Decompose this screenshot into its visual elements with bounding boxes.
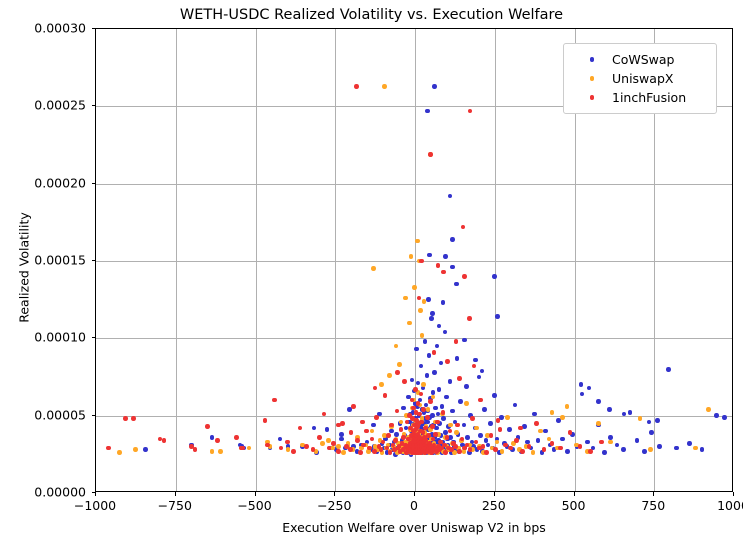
scatter-point — [386, 433, 391, 438]
scatter-point — [465, 435, 470, 440]
scatter-point — [560, 415, 565, 420]
scatter-point — [432, 370, 437, 375]
scatter-point — [550, 441, 555, 446]
scatter-point — [531, 450, 536, 455]
page-title: WETH-USDC Realized Volatility vs. Execut… — [0, 7, 743, 23]
scatter-point — [437, 387, 442, 392]
scatter-point — [454, 339, 459, 344]
scatter-point — [370, 437, 375, 442]
scatter-point — [648, 447, 653, 452]
scatter-point — [478, 433, 483, 438]
scatter-point — [428, 152, 433, 157]
scatter-point — [435, 420, 440, 425]
scatter-point — [379, 382, 384, 387]
scatter-point — [470, 416, 475, 421]
scatter-point — [373, 386, 378, 391]
scatter-point — [247, 446, 252, 451]
scatter-point — [454, 430, 459, 435]
scatter-point — [367, 446, 372, 451]
scatter-point — [341, 450, 346, 455]
scatter-point — [312, 426, 317, 431]
scatter-point — [503, 443, 508, 448]
scatter-point — [580, 392, 585, 397]
scatter-point — [607, 407, 612, 412]
scatter-point — [193, 447, 198, 452]
scatter-point — [399, 427, 404, 432]
scatter-point — [437, 324, 442, 329]
x-tick-label: 1000 — [717, 498, 743, 513]
scatter-point — [427, 253, 432, 258]
y-axis-label: Realized Volatility — [17, 158, 32, 378]
scatter-point — [657, 444, 662, 449]
scatter-point — [534, 421, 539, 426]
legend-item-1inchfusion[interactable]: 1inchFusion — [572, 88, 708, 107]
scatter-point — [428, 399, 433, 404]
scatter-point — [370, 429, 375, 434]
scatter-point — [320, 441, 325, 446]
scatter-point — [416, 381, 421, 386]
scatter-point — [599, 440, 604, 445]
scatter-point — [498, 427, 503, 432]
scatter-point — [481, 444, 486, 449]
scatter-point — [488, 421, 493, 426]
scatter-point — [434, 426, 439, 431]
scatter-point — [693, 446, 698, 451]
scatter-point — [364, 429, 369, 434]
x-tick-label: −1000 — [74, 498, 116, 513]
scatter-point — [602, 450, 607, 455]
scatter-point — [234, 435, 239, 440]
scatter-point — [383, 393, 388, 398]
scatter-point — [393, 438, 398, 443]
x-tick-mark — [414, 492, 415, 496]
scatter-point — [518, 426, 523, 431]
scatter-point — [448, 423, 453, 428]
x-tick-label: −500 — [237, 498, 271, 513]
scatter-point — [714, 413, 719, 418]
y-tick-mark — [92, 183, 96, 184]
scatter-point — [453, 444, 458, 449]
scatter-point — [478, 398, 483, 403]
scatter-point — [532, 412, 537, 417]
scatter-point — [162, 438, 167, 443]
x-tick-mark — [255, 492, 256, 496]
scatter-point — [443, 330, 448, 335]
scatter-point — [331, 441, 336, 446]
scatter-point — [218, 449, 223, 454]
scatter-point — [425, 373, 430, 378]
scatter-point — [514, 438, 519, 443]
scatter-point — [317, 435, 322, 440]
scatter-point — [360, 420, 365, 425]
scatter-point — [123, 416, 128, 421]
scatter-point — [538, 429, 543, 434]
y-tick-mark — [92, 105, 96, 106]
scatter-point — [700, 447, 705, 452]
scatter-point — [358, 450, 363, 455]
scatter-point — [432, 84, 437, 89]
scatter-point — [131, 416, 136, 421]
scatter-point — [457, 449, 462, 454]
scatter-point — [382, 84, 387, 89]
scatter-point — [448, 379, 453, 384]
scatter-point — [448, 194, 453, 199]
scatter-point — [722, 415, 727, 420]
scatter-point — [435, 344, 440, 349]
scatter-point — [455, 423, 460, 428]
scatter-point — [507, 427, 512, 432]
scatter-point — [462, 274, 467, 279]
scatter-point — [467, 316, 472, 321]
scatter-point — [419, 259, 424, 264]
legend-label: UniswapX — [612, 71, 673, 86]
scatter-point — [421, 407, 426, 412]
scatter-point — [621, 447, 626, 452]
scatter-point — [608, 435, 613, 440]
scatter-point — [325, 427, 330, 432]
scatter-point — [414, 347, 419, 352]
scatter-point — [596, 421, 601, 426]
scatter-point — [579, 382, 584, 387]
scatter-point — [440, 404, 445, 409]
legend-marker-icon — [572, 95, 612, 100]
scatter-point — [419, 420, 424, 425]
scatter-point — [565, 404, 570, 409]
scatter-point — [473, 358, 478, 363]
scatter-point — [472, 364, 477, 369]
scatter-point — [279, 446, 284, 451]
scatter-point — [468, 447, 473, 452]
scatter-point — [371, 266, 376, 271]
scatter-point — [263, 418, 268, 423]
scatter-point — [495, 440, 500, 445]
scatter-point — [462, 423, 467, 428]
legend-marker-icon — [572, 57, 612, 62]
scatter-point — [336, 423, 341, 428]
y-tick-label: 0.00015 — [34, 253, 86, 268]
scatter-point — [399, 420, 404, 425]
x-tick-label: 250 — [482, 498, 506, 513]
scatter-point — [480, 369, 485, 374]
scatter-point — [436, 263, 441, 268]
scatter-point — [298, 426, 303, 431]
scatter-point — [395, 409, 400, 414]
scatter-point — [401, 435, 406, 440]
scatter-point — [423, 339, 428, 344]
scatter-point — [420, 333, 425, 338]
scatter-point — [403, 296, 408, 301]
scatter-point — [417, 296, 422, 301]
scatter-point — [339, 432, 344, 437]
scatter-point — [351, 404, 356, 409]
y-tick-label: 0.00000 — [34, 485, 86, 500]
scatter-point — [543, 429, 548, 434]
scatter-point — [387, 373, 392, 378]
legend-marker-icon — [572, 76, 612, 81]
y-tick-label: 0.00030 — [34, 21, 86, 36]
scatter-point — [427, 353, 432, 358]
scatter-point — [505, 415, 510, 420]
scatter-point — [215, 438, 220, 443]
scatter-point — [433, 406, 438, 411]
scatter-point — [210, 435, 215, 440]
scatter-point — [448, 435, 453, 440]
scatter-point — [615, 443, 620, 448]
scatter-point — [407, 321, 412, 326]
scatter-point — [513, 403, 518, 408]
scatter-point — [286, 447, 291, 452]
scatter-point — [474, 426, 479, 431]
scatter-point — [426, 407, 431, 412]
scatter-point — [578, 444, 583, 449]
scatter-point — [450, 237, 455, 242]
scatter-point — [464, 384, 469, 389]
scatter-point — [418, 308, 423, 313]
figure-container: WETH-USDC Realized Volatility vs. Execut… — [0, 0, 743, 547]
x-tick-label: −750 — [158, 498, 192, 513]
scatter-point — [596, 399, 601, 404]
scatter-point — [422, 299, 427, 304]
scatter-point — [322, 412, 327, 417]
scatter-point — [492, 393, 497, 398]
scatter-point — [374, 415, 379, 420]
y-tick-mark — [92, 415, 96, 416]
legend-swatch — [590, 57, 595, 62]
scatter-point — [587, 386, 592, 391]
scatter-point — [326, 438, 331, 443]
scatter-point — [458, 399, 463, 404]
scatter-point — [565, 449, 570, 454]
legend-swatch — [590, 76, 595, 81]
scatter-point — [445, 359, 450, 364]
scatter-point — [394, 344, 399, 349]
scatter-point — [416, 401, 421, 406]
scatter-point — [278, 437, 283, 442]
scatter-point — [311, 447, 316, 452]
scatter-point — [638, 416, 643, 421]
scatter-point — [536, 438, 541, 443]
scatter-point — [412, 285, 417, 290]
scatter-point — [454, 282, 459, 287]
scatter-point — [628, 410, 633, 415]
legend-item-cowswap[interactable]: CoWSwap — [572, 50, 708, 69]
scatter-point — [642, 449, 647, 454]
legend-label: 1inchFusion — [612, 90, 686, 105]
scatter-point — [106, 446, 111, 451]
y-tick-label: 0.00010 — [34, 330, 86, 345]
scatter-point — [450, 265, 455, 270]
scatter-point — [520, 449, 525, 454]
x-tick-mark — [334, 492, 335, 496]
scatter-point — [430, 413, 435, 418]
scatter-point — [409, 254, 414, 259]
scatter-point — [133, 447, 138, 452]
scatter-point — [468, 109, 473, 114]
scatter-point — [426, 297, 431, 302]
y-tick-mark — [92, 492, 96, 493]
scatter-point — [410, 378, 415, 383]
x-tick-label: −250 — [317, 498, 351, 513]
scatter-point — [397, 362, 402, 367]
scatter-point — [461, 225, 466, 230]
scatter-point — [336, 449, 341, 454]
legend-label: CoWSwap — [612, 52, 675, 67]
scatter-point — [492, 274, 497, 279]
x-tick-label: 750 — [641, 498, 665, 513]
scatter-point — [489, 433, 494, 438]
x-axis-label: Execution Welfare over Uniswap V2 in bps — [95, 520, 733, 535]
scatter-point — [423, 426, 428, 431]
scatter-point — [649, 430, 654, 435]
scatter-point — [430, 311, 435, 316]
scatter-point — [687, 441, 692, 446]
legend-swatch — [590, 95, 595, 100]
scatter-point — [450, 409, 455, 414]
scatter-point — [462, 338, 467, 343]
scatter-point — [445, 435, 450, 440]
scatter-point — [647, 420, 652, 425]
scatter-point — [666, 367, 671, 372]
scatter-point — [439, 361, 444, 366]
scatter-point — [608, 440, 613, 445]
scatter-point — [433, 432, 438, 437]
scatter-point — [371, 423, 376, 428]
scatter-point — [550, 410, 555, 415]
scatter-point — [419, 364, 424, 369]
scatter-point — [441, 270, 446, 275]
scatter-point — [381, 440, 386, 445]
scatter-point — [457, 376, 462, 381]
scatter-point — [500, 449, 505, 454]
scatter-point — [432, 350, 437, 355]
scatter-point — [415, 239, 420, 244]
scatter-point — [655, 418, 660, 423]
scatter-point — [522, 424, 527, 429]
scatter-point — [349, 430, 354, 435]
scatter-point — [394, 432, 399, 437]
scatter-point — [291, 449, 296, 454]
scatter-point — [477, 375, 482, 380]
scatter-point — [348, 447, 353, 452]
scatter-point — [585, 440, 590, 445]
x-tick-label: 0 — [410, 498, 418, 513]
scatter-point — [117, 450, 122, 455]
scatter-point — [496, 418, 501, 423]
scatter-point — [495, 314, 500, 319]
y-tick-mark — [92, 260, 96, 261]
scatter-point — [542, 447, 547, 452]
x-tick-mark — [574, 492, 575, 496]
scatter-point — [560, 437, 565, 442]
scatter-point — [622, 412, 627, 417]
scatter-point — [429, 316, 434, 321]
y-tick-label: 0.00005 — [34, 407, 86, 422]
y-tick-label: 0.00025 — [34, 98, 86, 113]
scatter-point — [210, 449, 215, 454]
scatter-point — [588, 449, 593, 454]
scatter-point — [674, 446, 679, 451]
scatter-point — [448, 429, 453, 434]
scatter-point — [443, 450, 448, 455]
x-tick-mark — [494, 492, 495, 496]
x-tick-mark — [733, 492, 734, 496]
scatter-point — [455, 356, 460, 361]
scatter-point — [143, 447, 148, 452]
scatter-point — [426, 433, 431, 438]
scatter-point — [425, 415, 430, 420]
y-tick-mark — [92, 337, 96, 338]
scatter-point — [706, 407, 711, 412]
scatter-point — [444, 395, 449, 400]
scatter-point — [484, 450, 489, 455]
scatter-point — [558, 446, 563, 451]
x-tick-label: 500 — [562, 498, 586, 513]
scatter-point — [419, 392, 424, 397]
scatter-point — [402, 379, 407, 384]
scatter-point — [421, 382, 426, 387]
scatter-point — [464, 401, 469, 406]
scatter-point — [441, 300, 446, 305]
scatter-point — [635, 438, 640, 443]
x-tick-mark — [95, 492, 96, 496]
scatter-point — [493, 447, 498, 452]
scatter-point — [425, 109, 430, 114]
legend-item-uniswapx[interactable]: UniswapX — [572, 69, 708, 88]
scatter-point — [272, 398, 277, 403]
scatter-point — [499, 415, 504, 420]
y-tick-mark — [92, 28, 96, 29]
y-tick-label: 0.00020 — [34, 175, 86, 190]
scatter-point — [354, 84, 359, 89]
scatter-point — [355, 438, 360, 443]
x-tick-mark — [175, 492, 176, 496]
scatter-point — [372, 449, 377, 454]
scatter-point — [401, 406, 406, 411]
scatter-point — [413, 387, 418, 392]
scatter-point — [443, 254, 448, 259]
scatter-point — [304, 444, 309, 449]
scatter-point — [285, 440, 290, 445]
x-tick-mark — [653, 492, 654, 496]
scatter-point — [205, 424, 210, 429]
scatter-point — [441, 416, 446, 421]
legend[interactable]: CoWSwapUniswapX1inchFusion — [563, 43, 717, 114]
scatter-point — [395, 370, 400, 375]
scatter-point — [482, 407, 487, 412]
scatter-point — [339, 437, 344, 442]
scatter-point — [430, 424, 435, 429]
